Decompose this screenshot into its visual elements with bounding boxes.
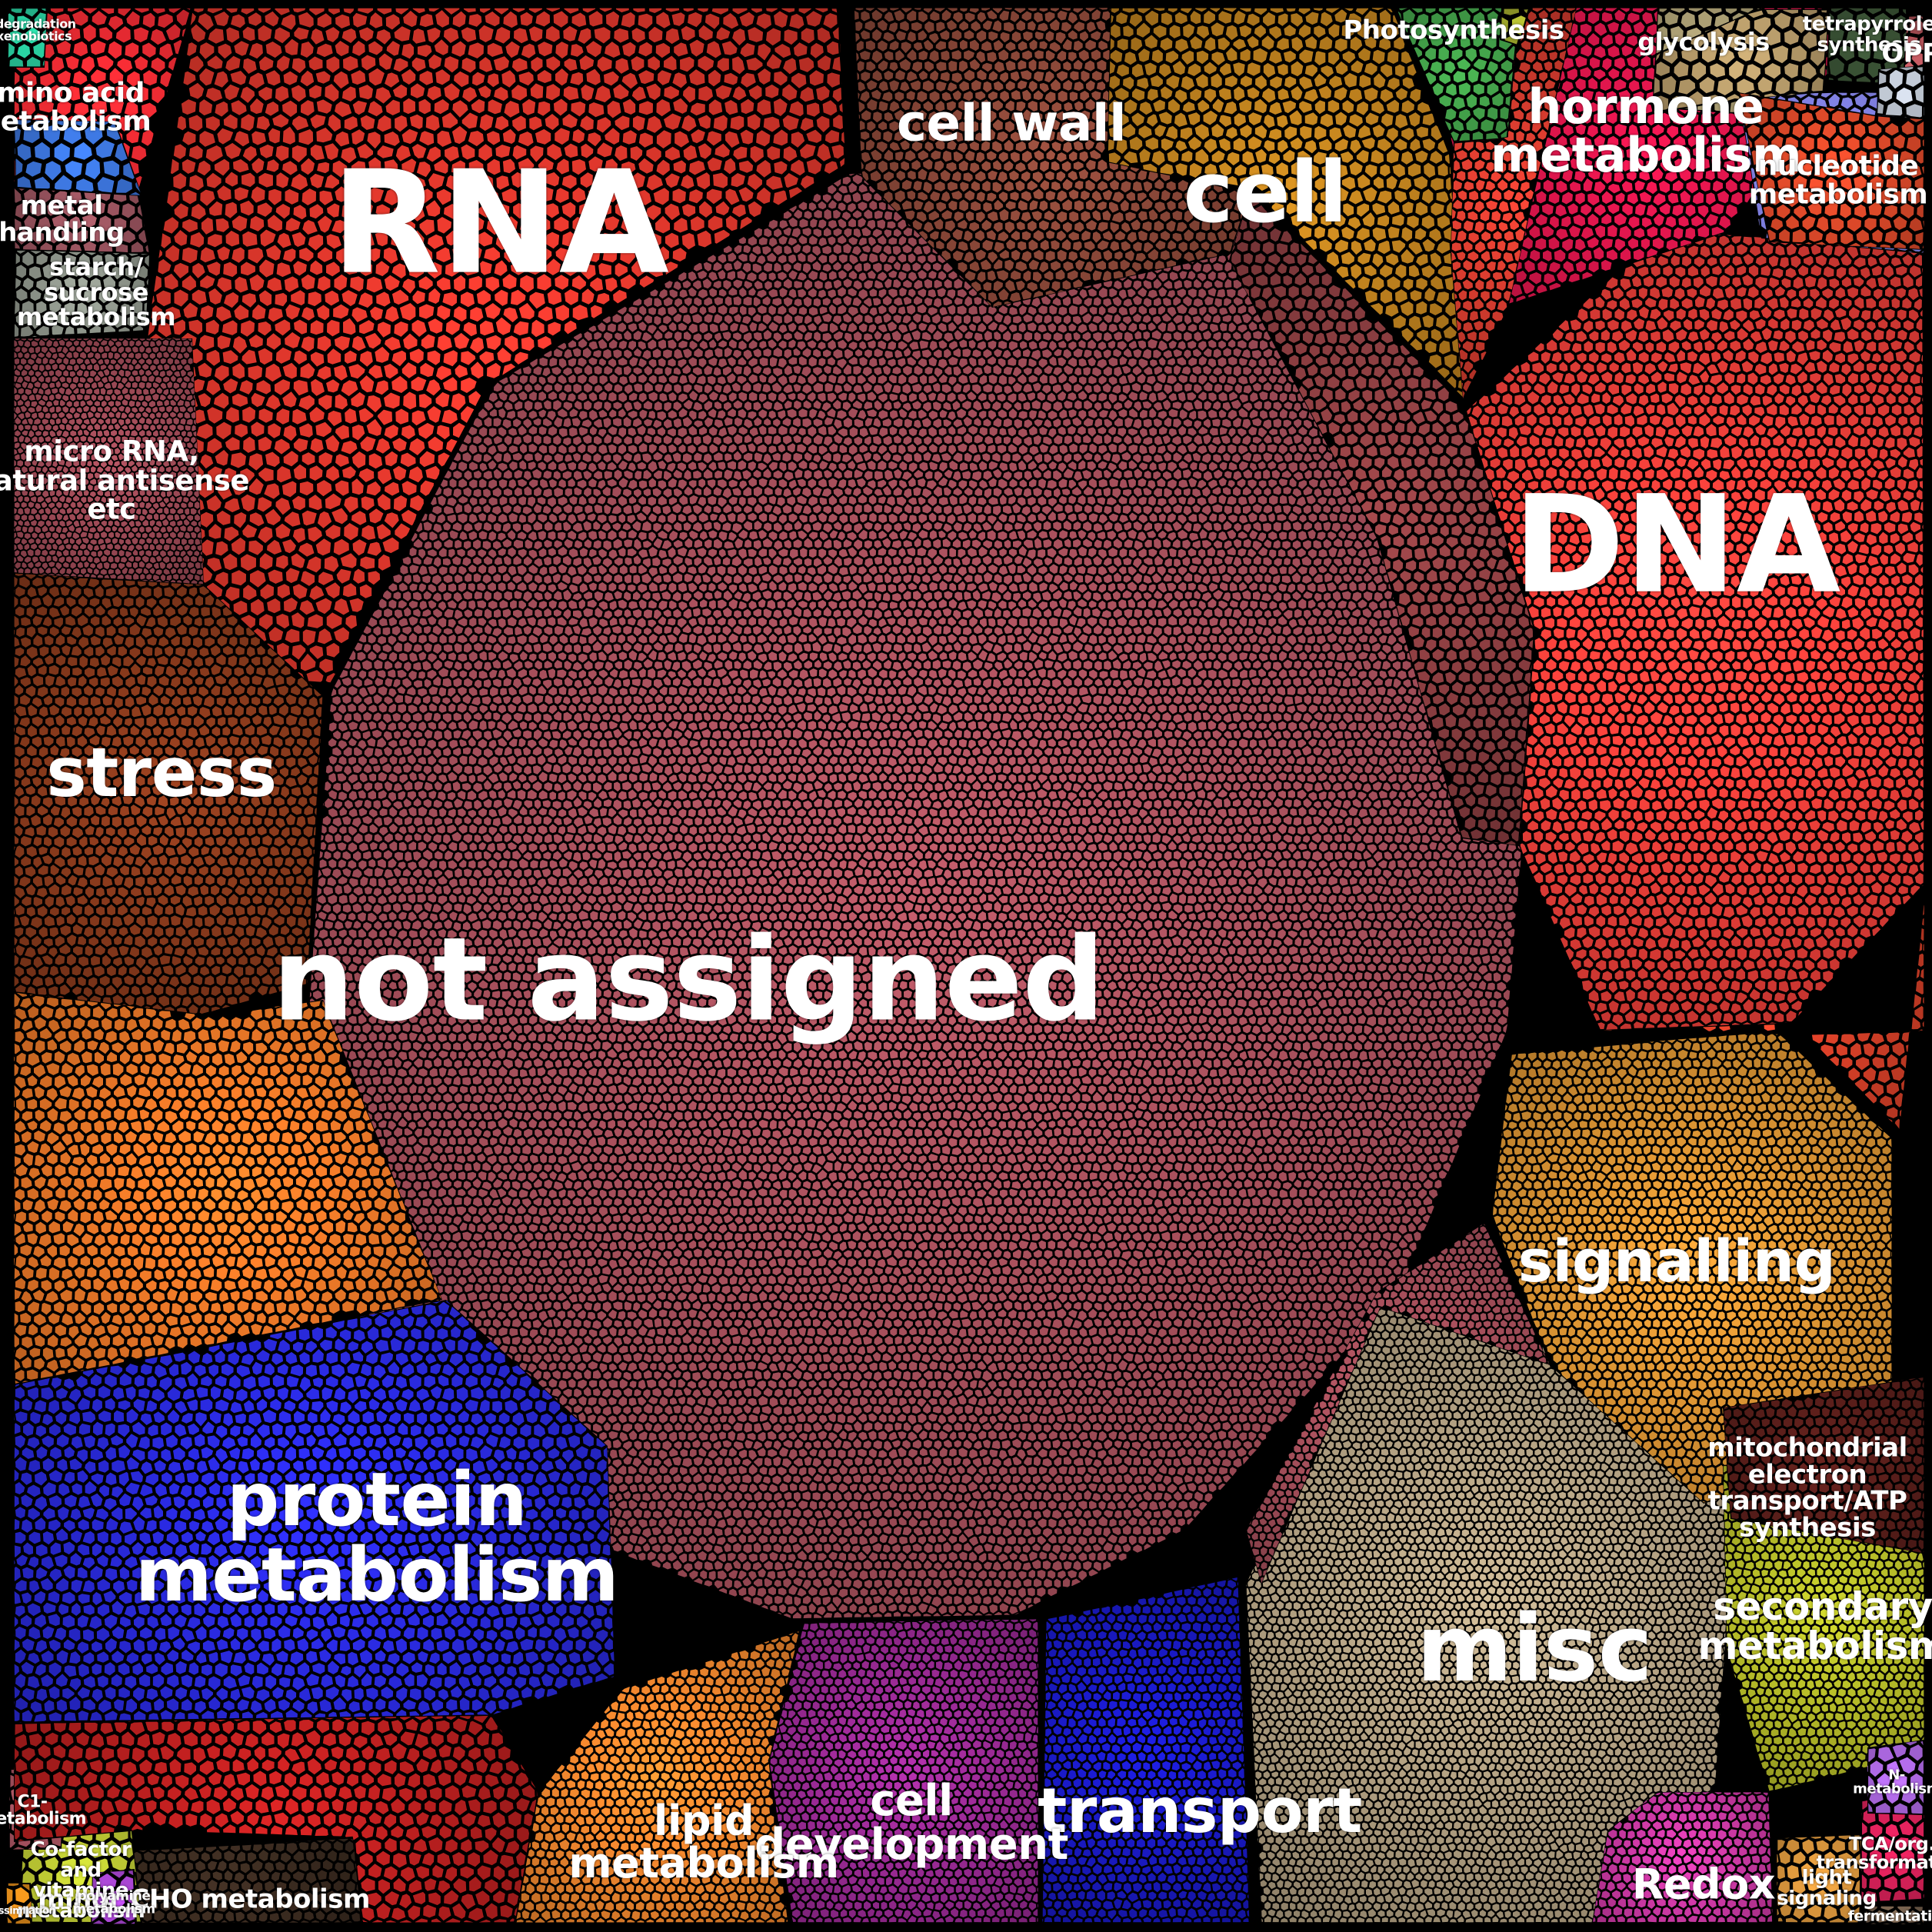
voronoi-treemap-figure: not assignedRNADNAprotein metabolismmisc…: [0, 0, 1932, 1932]
treemap-cell: [508, 636, 516, 644]
treemap-cell: [884, 212, 893, 221]
treemap-cells-layer: [0, 0, 1932, 1932]
treemap-cell: [1220, 323, 1227, 331]
treemap-cell: [1019, 618, 1028, 627]
treemap-cell: [1212, 419, 1221, 427]
